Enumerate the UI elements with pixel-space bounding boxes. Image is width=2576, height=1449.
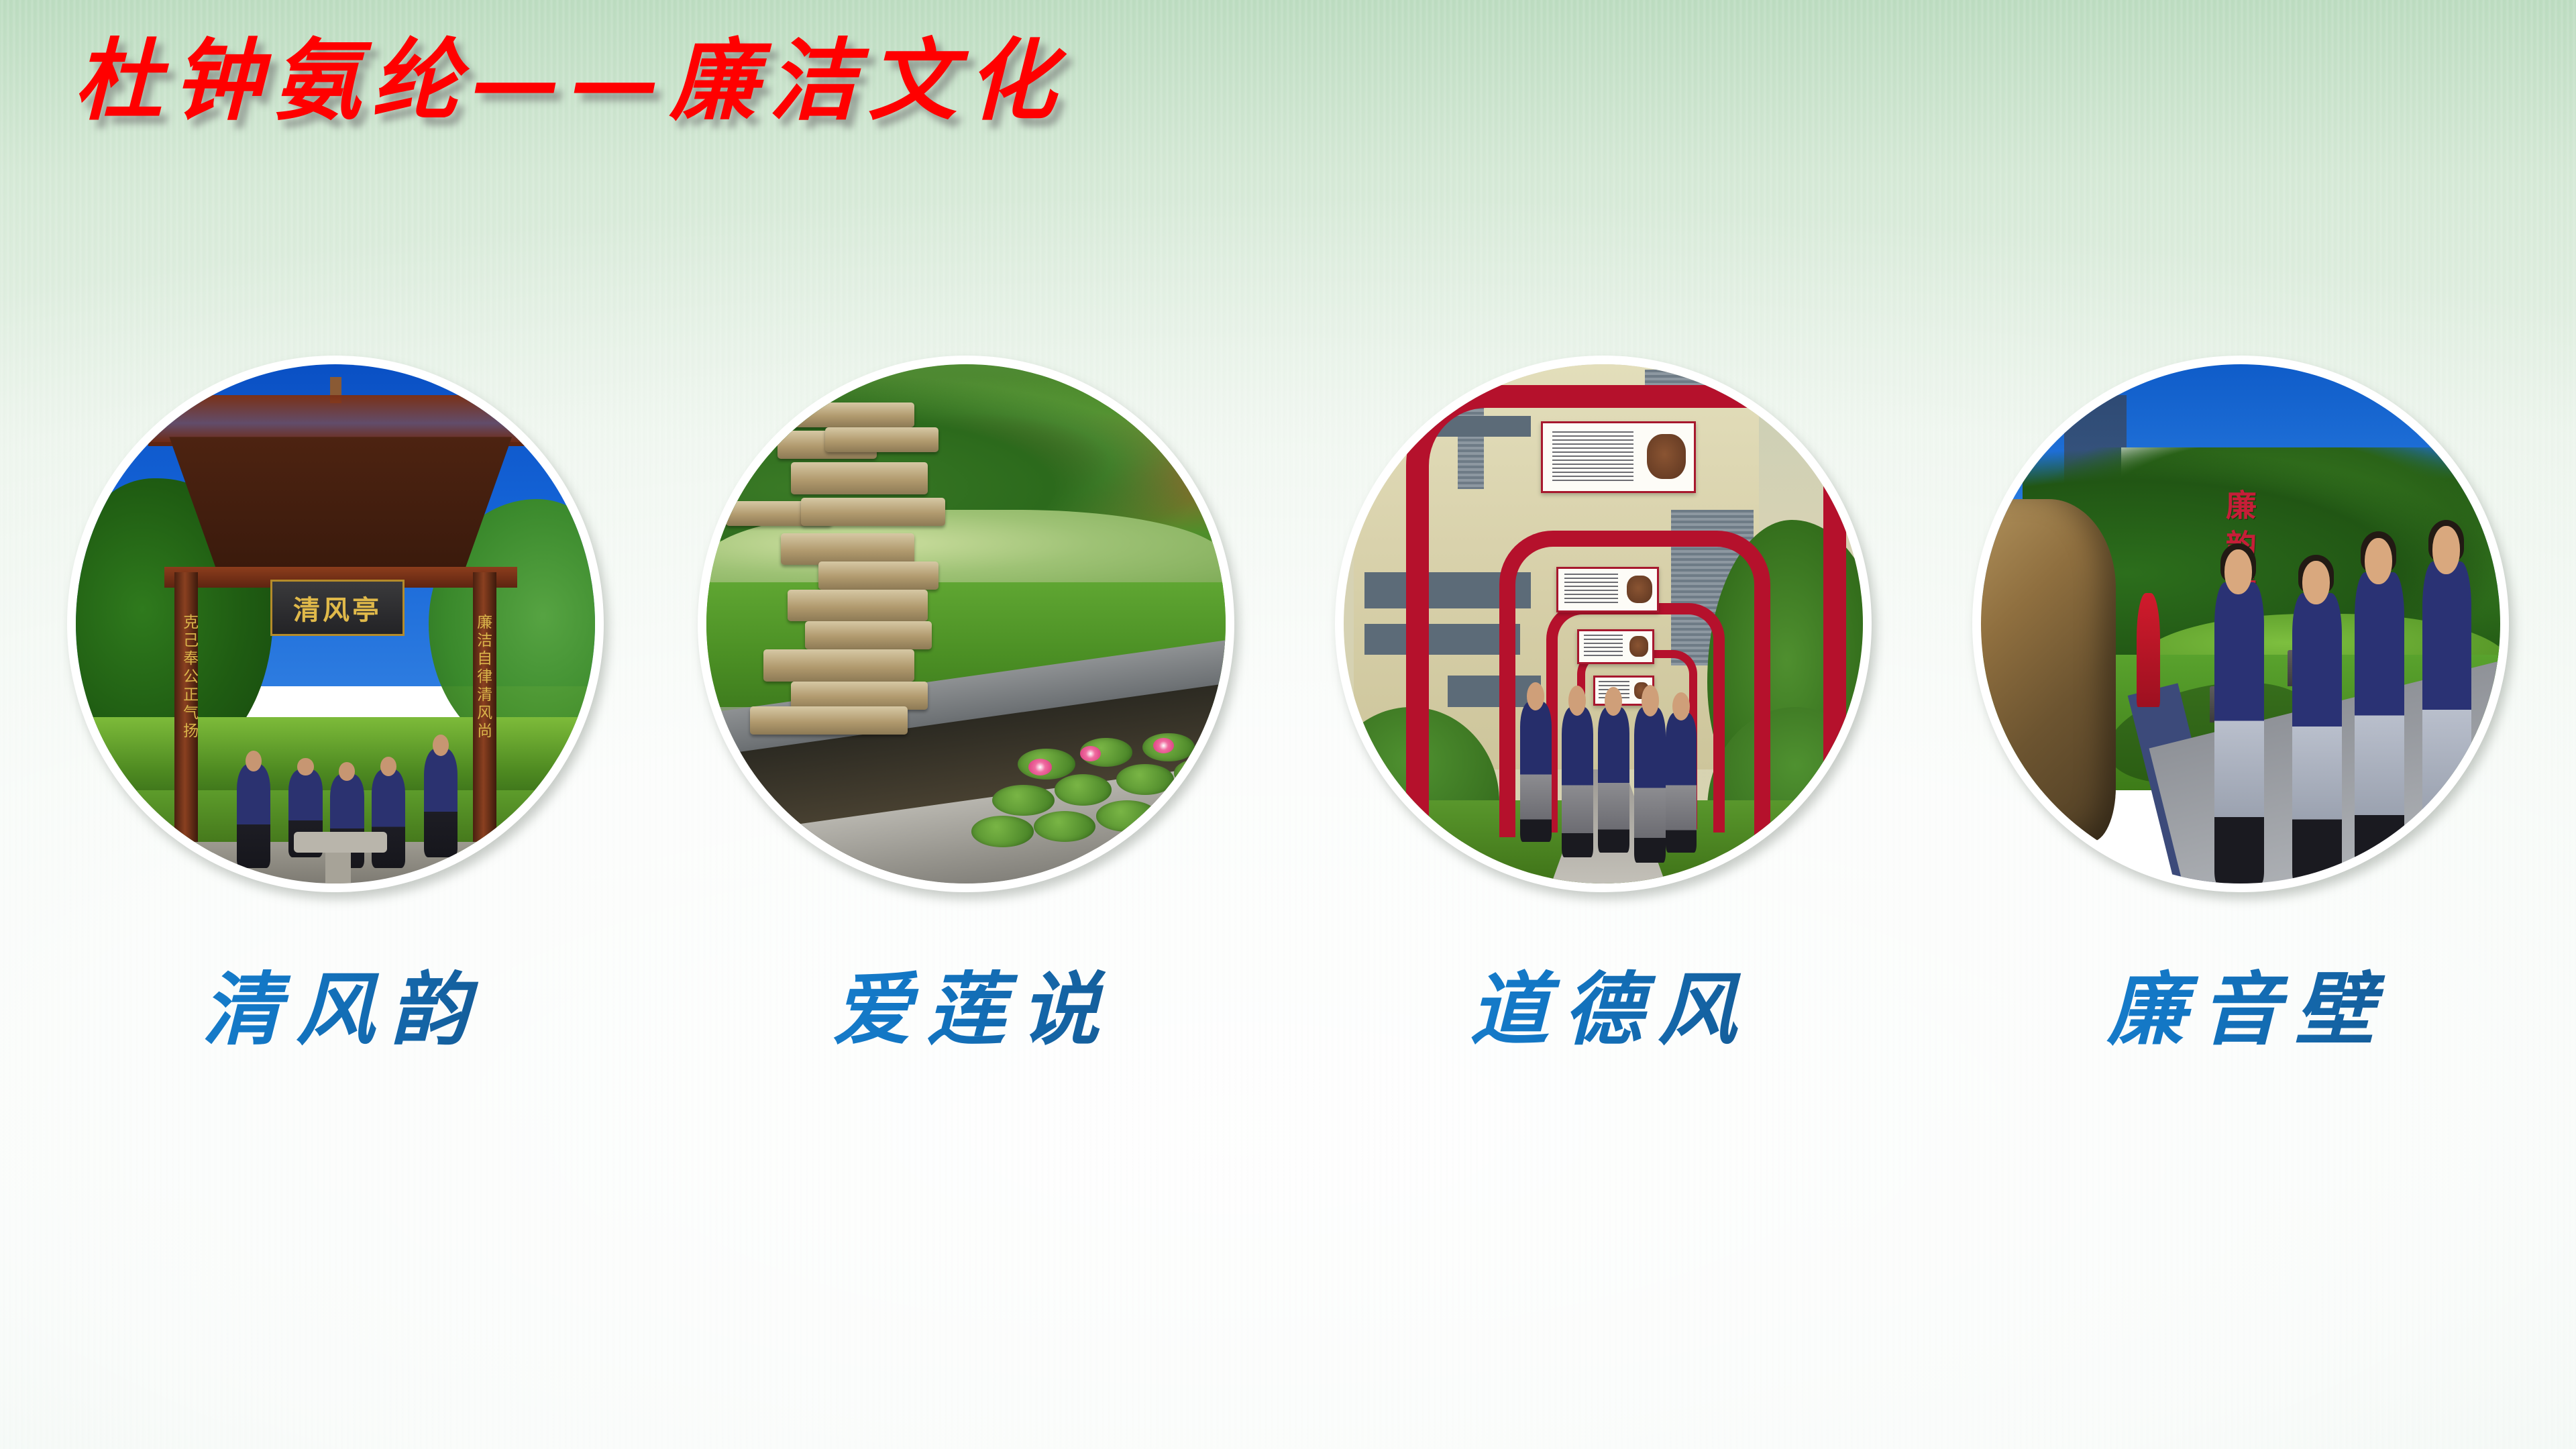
rockery-sculpture: [774, 395, 945, 748]
photo-item-1[interactable]: 清风亭 克己奉公正气扬 廉洁自律清风尚: [54, 349, 617, 919]
photo-circle-lotus-pond[interactable]: [698, 356, 1234, 892]
photo-caption-3: 道德风: [1322, 958, 1885, 1061]
photo-circle-red-arches[interactable]: [1335, 356, 1872, 892]
pavilion-plaque: 清风亭: [270, 580, 405, 635]
photo-item-4[interactable]: 廉韵清风: [1959, 349, 2522, 919]
slide-canvas: 杜钟氨纶——廉洁文化: [0, 0, 2576, 1449]
photo-item-2[interactable]: [684, 349, 1248, 919]
pavilion-couplet-left: 克己奉公正气扬: [180, 614, 196, 822]
photo-caption-4: 廉音壁: [1959, 958, 2522, 1061]
photo-circle-pavilion[interactable]: 清风亭 克己奉公正气扬 廉洁自律清风尚: [67, 356, 604, 892]
photo-caption-1: 清风韵: [54, 958, 617, 1061]
scene-stone-monument: 廉韵清风: [1981, 364, 2500, 883]
photo-gallery-row: 清风亭 克己奉公正气扬 廉洁自律清风尚: [0, 349, 2576, 953]
pavilion-couplet-right: 廉洁自律清风尚: [474, 614, 490, 822]
photo-item-3[interactable]: [1322, 349, 1885, 919]
scene-pavilion: 清风亭 克己奉公正气扬 廉洁自律清风尚: [76, 364, 595, 883]
display-board-2: [1556, 567, 1659, 612]
photo-circle-stone-monument[interactable]: 廉韵清风: [1972, 356, 2509, 892]
display-board-1: [1541, 421, 1695, 493]
scene-red-arch-corridor: [1344, 364, 1863, 883]
display-board-3: [1577, 629, 1654, 664]
page-title: 杜钟氨纶——廉洁文化: [74, 25, 1067, 136]
photo-caption-2: 爱莲说: [684, 958, 1248, 1061]
scene-lotus-pond: [706, 364, 1226, 883]
